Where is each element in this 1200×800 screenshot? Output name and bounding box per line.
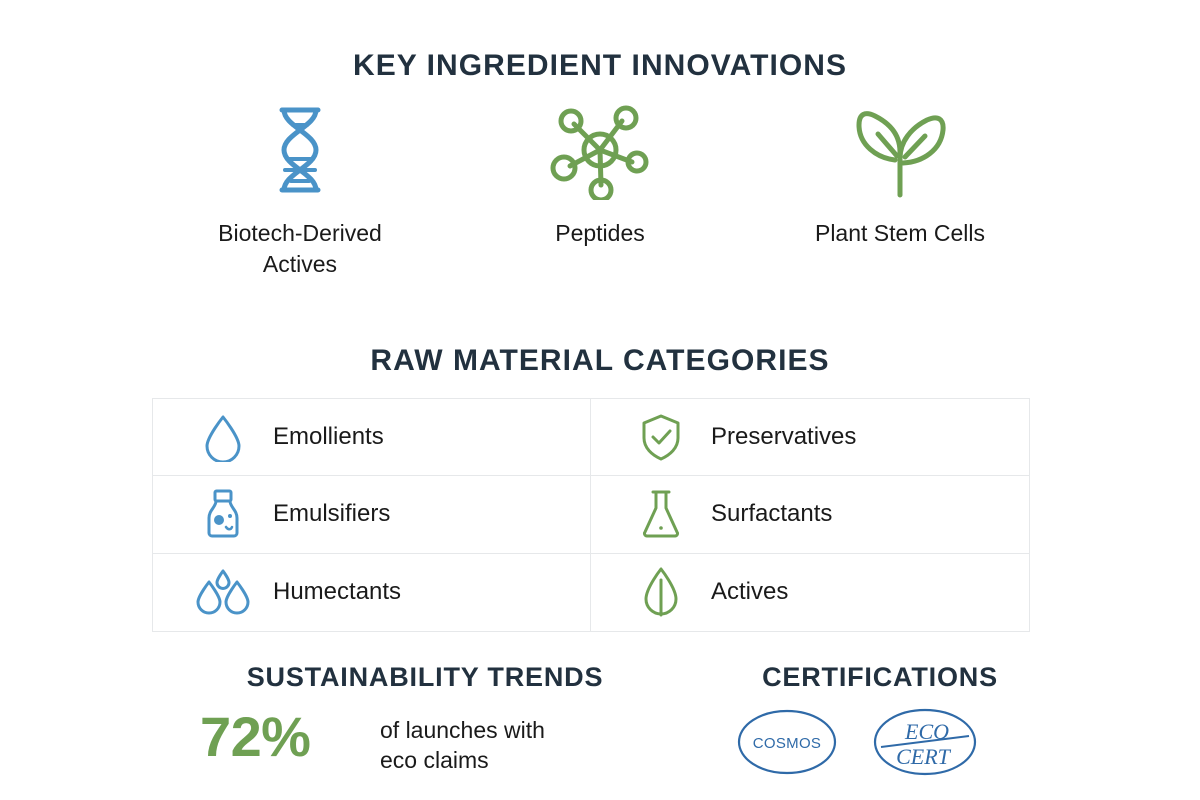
table-cell-label: Emollients xyxy=(273,422,384,452)
innovation-item-peptides: Peptides xyxy=(450,100,750,249)
dna-helix-icon xyxy=(260,100,340,200)
table-cell-label: Emulsifiers xyxy=(273,499,390,529)
raw-materials-heading: RAW MATERIAL CATEGORIES xyxy=(0,342,1200,380)
table-cell-actives[interactable]: Actives xyxy=(591,554,1029,631)
table-cell-preservatives[interactable]: Preservatives xyxy=(591,399,1029,476)
innovation-item-biotech: Biotech-Derived Actives xyxy=(150,100,450,280)
sustainability-stat-block: 72% of launches with eco claims xyxy=(200,707,660,775)
infographic-page: KEY INGREDIENT INNOVATIONS xyxy=(0,0,1200,800)
certifications-heading: CERTIFICATIONS xyxy=(735,660,1025,694)
table-cell-label: Surfactants xyxy=(711,499,832,529)
innovation-item-plant-stem-cells: Plant Stem Cells xyxy=(750,100,1050,249)
three-droplets-icon xyxy=(195,566,251,618)
table-cell-label: Humectants xyxy=(273,577,401,607)
stat-description-line-1: of launches with xyxy=(380,715,545,745)
cosmos-badge[interactable]: COSMOS xyxy=(735,706,839,778)
raw-materials-table: Emollients Preservatives xyxy=(152,398,1030,632)
stat-description-line-2: eco claims xyxy=(380,745,545,775)
sustainability-stat-description: of launches with eco claims xyxy=(380,707,545,775)
key-ingredients-row: Biotech-Derived Actives xyxy=(150,100,1050,280)
leaf-icon xyxy=(633,566,689,618)
innovation-label: Peptides xyxy=(555,218,645,249)
certifications-row: COSMOS ECO CERT xyxy=(735,705,1035,779)
ecocert-badge-label-line-1: ECO xyxy=(904,719,949,744)
sustainability-heading: SUSTAINABILITY TRENDS xyxy=(200,660,650,694)
bottle-icon xyxy=(195,488,251,540)
table-cell-label: Preservatives xyxy=(711,422,856,452)
table-cell-humectants[interactable]: Humectants xyxy=(153,554,591,631)
plant-sprout-icon xyxy=(845,100,955,200)
water-droplet-icon xyxy=(195,411,251,463)
erlenmeyer-flask-icon xyxy=(633,488,689,540)
molecule-icon xyxy=(548,100,653,200)
table-cell-emollients[interactable]: Emollients xyxy=(153,399,591,476)
cosmos-badge-label: COSMOS xyxy=(753,735,821,752)
sustainability-stat-value: 72% xyxy=(200,707,360,767)
innovation-label: Plant Stem Cells xyxy=(815,218,985,249)
key-ingredients-heading: KEY INGREDIENT INNOVATIONS xyxy=(0,47,1200,85)
table-cell-label: Actives xyxy=(711,577,788,607)
innovation-label: Biotech-Derived Actives xyxy=(193,218,408,280)
ecocert-badge[interactable]: ECO CERT xyxy=(871,705,979,779)
ecocert-badge-label-line-2: CERT xyxy=(896,744,952,769)
shield-check-icon xyxy=(633,411,689,463)
table-cell-surfactants[interactable]: Surfactants xyxy=(591,476,1029,553)
table-cell-emulsifiers[interactable]: Emulsifiers xyxy=(153,476,591,553)
